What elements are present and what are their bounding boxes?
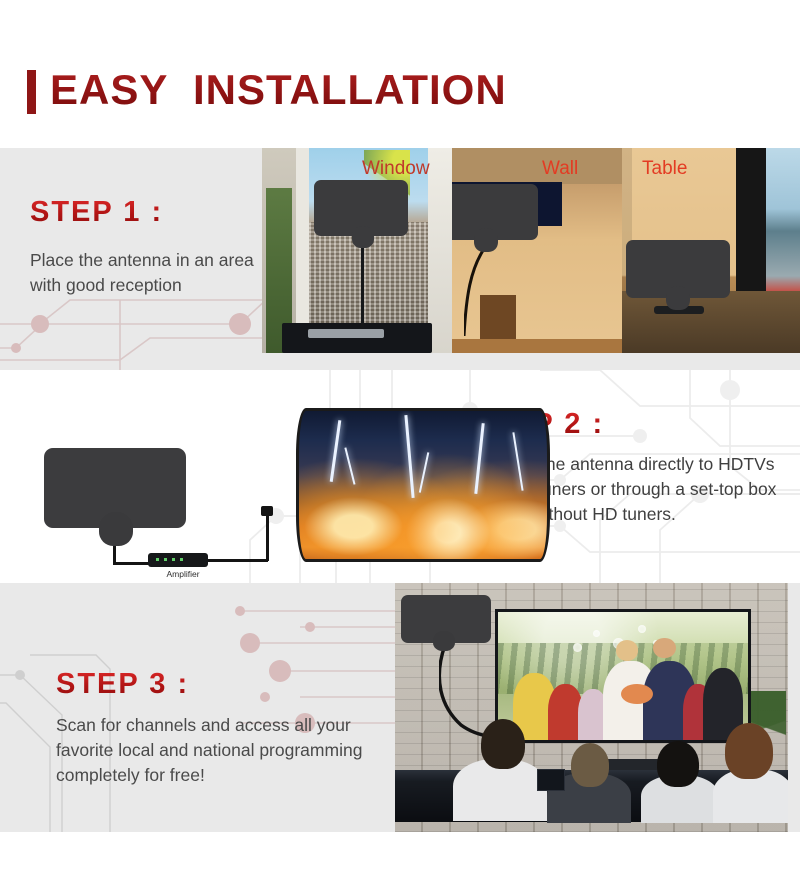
step-3-body: Scan for channels and access all your fa… [56, 713, 386, 788]
table-window-view [766, 148, 800, 308]
tv-bouquet [621, 684, 654, 704]
lightning-bolt-4 [419, 453, 430, 494]
infographic-page: EASY INSTALLATION STEP 1 : Place [0, 0, 800, 879]
lightning-bolt-5 [474, 423, 484, 494]
antenna-knob-diagram [99, 512, 133, 546]
lightning-bolt-1 [329, 420, 340, 482]
lightning-bolt-6 [513, 432, 524, 491]
lightning-bolt-2 [344, 447, 355, 485]
page-title: EASY INSTALLATION [50, 66, 507, 114]
antenna-pole-window [361, 244, 364, 328]
lightning-bolt-3 [405, 415, 415, 498]
wall-floor [452, 339, 622, 353]
media-console [282, 323, 432, 353]
step-2-section: Amplifier STEP 2 : Connect the antenna d… [0, 370, 800, 583]
antenna-cable-to-amplifier [113, 562, 151, 565]
table-side-tv [736, 148, 766, 308]
title-accent-bar [27, 70, 36, 114]
living-room-photo [395, 583, 788, 832]
viewer-2-head [571, 743, 609, 787]
footer-whitespace [0, 832, 800, 879]
bubble-2 [593, 630, 600, 637]
viewer-tablet [537, 769, 565, 791]
tv-groom-head [653, 638, 676, 658]
viewer-1-head [481, 719, 525, 769]
antenna-knob-wall-mounted [433, 631, 455, 651]
placement-photo-strip: Window Wall [262, 148, 800, 353]
step-1-body: Place the antenna in an area with good r… [30, 248, 275, 298]
antenna-knob-wall [474, 228, 498, 252]
bubble-1 [573, 643, 582, 652]
bubble-4 [638, 625, 646, 633]
window-label: Window [362, 158, 430, 180]
cable-to-plug [266, 513, 269, 561]
step-3-heading: STEP 3 : [56, 668, 189, 701]
coax-plug [261, 506, 273, 516]
header-banner: EASY INSTALLATION [0, 0, 800, 148]
viewer-4-head [725, 723, 773, 779]
wall-upper-band [452, 148, 622, 184]
table-surface [622, 291, 800, 353]
step-1-heading: STEP 1 : [30, 196, 163, 229]
curved-tv-screen [296, 408, 550, 562]
photo-wall-placement [452, 148, 622, 353]
antenna-cable-wall [464, 246, 524, 336]
amplifier-cable-out [206, 559, 268, 562]
step-3-section: STEP 3 : Scan for channels and access al… [0, 583, 800, 832]
step-1-section: STEP 1 : Place the antenna in an area wi… [0, 148, 800, 370]
window-wall-right [428, 148, 452, 353]
viewer-3-head [657, 741, 699, 787]
wall-label: Wall [542, 158, 578, 180]
wall-mounted-tv [495, 609, 751, 743]
antenna-knob-table [666, 286, 690, 310]
amplifier-label: Amplifier [148, 569, 218, 579]
amplifier-box [148, 553, 208, 567]
tv-bride-head [616, 640, 639, 660]
table-label: Table [642, 158, 687, 180]
antenna-knob-window [352, 226, 374, 248]
